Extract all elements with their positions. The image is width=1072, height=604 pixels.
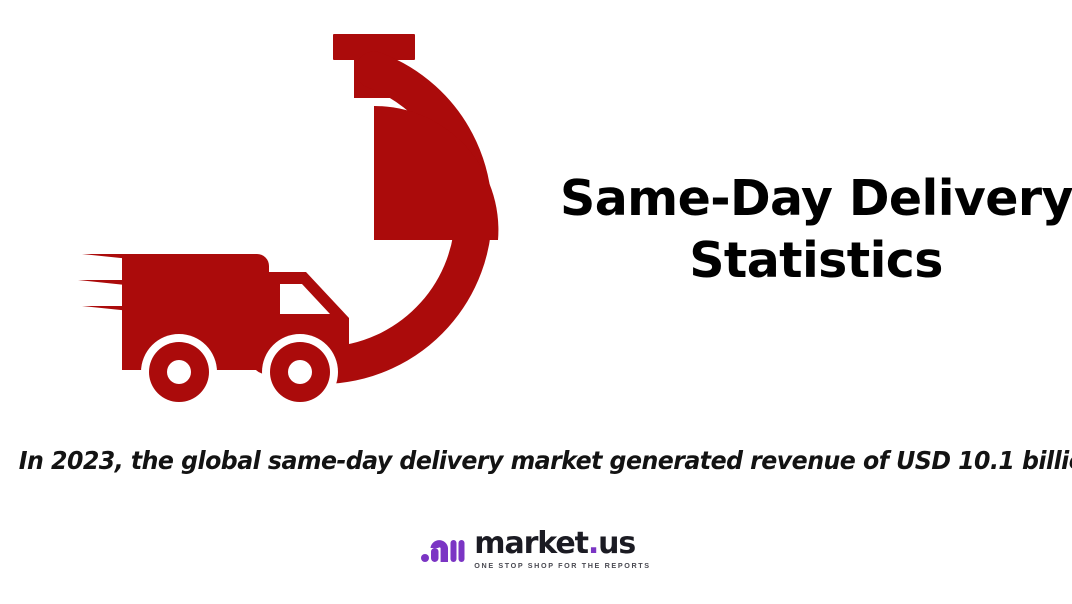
page-title-line-1: Same-Day Delivery xyxy=(560,168,1072,230)
truck-wheel-rear-hub xyxy=(167,360,191,384)
market-us-tagline: ONE STOP SHOP FOR THE REPORTS xyxy=(474,562,650,569)
logo-word-main: market xyxy=(474,526,588,561)
infographic-page: Same-Day Delivery Statistics In 2023, th… xyxy=(0,0,1072,604)
truck-wheel-front-hub xyxy=(288,360,312,384)
logo-word-dot: . xyxy=(588,526,598,561)
market-us-logo-text: market.us ONE STOP SHOP FOR THE REPORTS xyxy=(474,529,650,569)
page-title: Same-Day Delivery Statistics xyxy=(560,168,1072,291)
caption-text: In 2023, the global same-day delivery ma… xyxy=(19,446,1053,475)
hero-section: Same-Day Delivery Statistics xyxy=(0,0,1072,424)
market-us-logo[interactable]: market.us ONE STOP SHOP FOR THE REPORTS xyxy=(421,529,650,569)
footer-branding: market.us ONE STOP SHOP FOR THE REPORTS xyxy=(0,518,1072,580)
stopwatch-quarter-wedge xyxy=(374,106,498,240)
same-day-delivery-illustration xyxy=(78,28,562,402)
page-title-line-2: Statistics xyxy=(560,230,1072,292)
market-us-wordmark: market.us xyxy=(474,529,635,559)
market-us-logo-mark xyxy=(421,534,465,564)
logo-word-suffix: us xyxy=(598,526,635,561)
